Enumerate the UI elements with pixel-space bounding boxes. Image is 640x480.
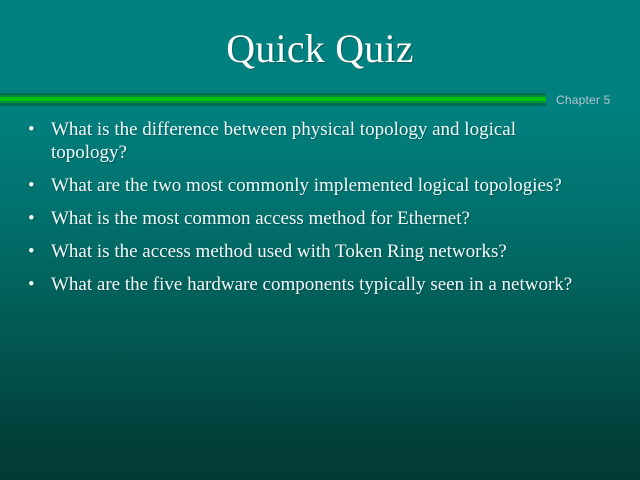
list-item: • What are the five hardware components … — [0, 273, 640, 296]
bullet-dot-icon: • — [28, 207, 40, 230]
bullet-dot-icon: • — [28, 174, 40, 197]
slide-title-area: Quick Quiz — [0, 26, 640, 72]
list-item-text: What is the difference between physical … — [51, 118, 582, 164]
list-item: • What is the most common access method … — [0, 207, 640, 230]
bullet-dot-icon: • — [28, 273, 40, 296]
list-item: • What is the access method used with To… — [0, 240, 640, 263]
bullet-dot-icon: • — [28, 240, 40, 263]
divider-stripe-dark-bottom — [0, 103, 546, 106]
list-item: • What is the difference between physica… — [0, 118, 640, 164]
bullet-list: • What is the difference between physica… — [0, 118, 640, 306]
list-item-text: What is the most common access method fo… — [51, 207, 582, 230]
chapter-label: Chapter 5 — [556, 93, 611, 107]
title-divider-bar — [0, 93, 546, 106]
list-item-text: What are the two most commonly implement… — [51, 174, 582, 197]
list-item: • What are the two most commonly impleme… — [0, 174, 640, 197]
page-title: Quick Quiz — [226, 26, 414, 72]
presentation-slide: Quick Quiz Chapter 5 • What is the diffe… — [0, 0, 640, 480]
bullet-dot-icon: • — [28, 118, 40, 141]
list-item-text: What is the access method used with Toke… — [51, 240, 582, 263]
list-item-text: What are the five hardware components ty… — [51, 273, 582, 296]
